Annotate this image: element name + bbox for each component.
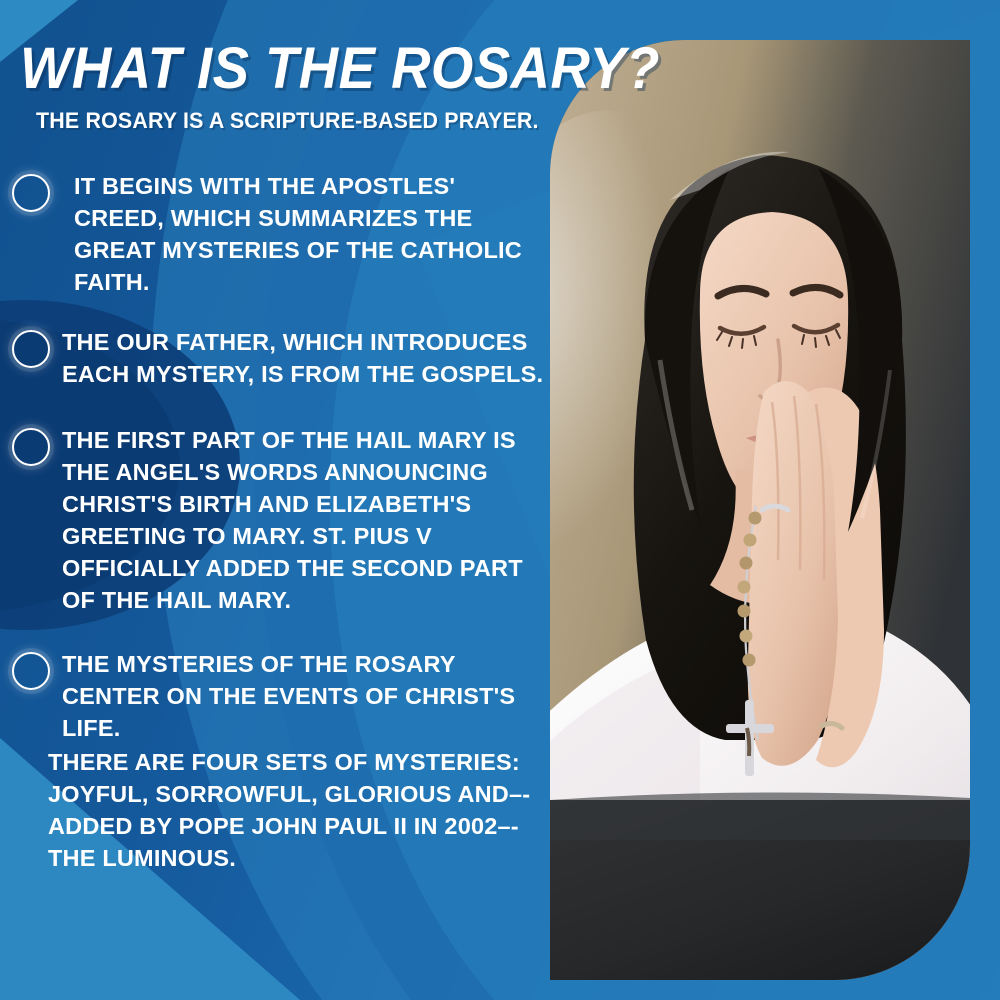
list-item: THE OUR FATHER, WHICH INTRODUCES EACH MY… <box>0 326 560 390</box>
list-item-label: THE MYSTERIES OF THE ROSARY CENTER ON TH… <box>62 648 560 744</box>
text-content-column: WHAT IS THE ROSARY? THE ROSARY IS A SCRI… <box>0 0 560 1000</box>
ring-bullet-icon <box>0 648 62 690</box>
list-item-label: THE FIRST PART OF THE HAIL MARY IS THE A… <box>62 424 560 616</box>
list-item: THE FIRST PART OF THE HAIL MARY IS THE A… <box>0 424 560 616</box>
list-item-label: IT BEGINS WITH THE APOSTLES' CREED, WHIC… <box>62 170 560 298</box>
ring-bullet-icon <box>0 326 62 368</box>
list-item: THE MYSTERIES OF THE ROSARY CENTER ON TH… <box>0 648 560 874</box>
page-title: WHAT IS THE ROSARY? <box>20 38 584 100</box>
list-item: IT BEGINS WITH THE APOSTLES' CREED, WHIC… <box>0 170 560 298</box>
list-item-label: THE OUR FATHER, WHICH INTRODUCES EACH MY… <box>62 326 560 390</box>
ring-bullet-icon <box>0 424 62 466</box>
bullet-list: IT BEGINS WITH THE APOSTLES' CREED, WHIC… <box>0 170 560 900</box>
ring-bullet-icon <box>0 170 62 212</box>
rosary-infographic-poster: WHAT IS THE ROSARY? THE ROSARY IS A SCRI… <box>0 0 1000 1000</box>
list-item-sub-note: THERE ARE FOUR SETS OF MYSTERIES: JOYFUL… <box>0 746 560 874</box>
page-subtitle: THE ROSARY IS A SCRIPTURE-BASED PRAYER. <box>36 108 539 134</box>
praying-woman-illustration <box>550 40 970 980</box>
praying-woman-photo <box>550 40 970 980</box>
